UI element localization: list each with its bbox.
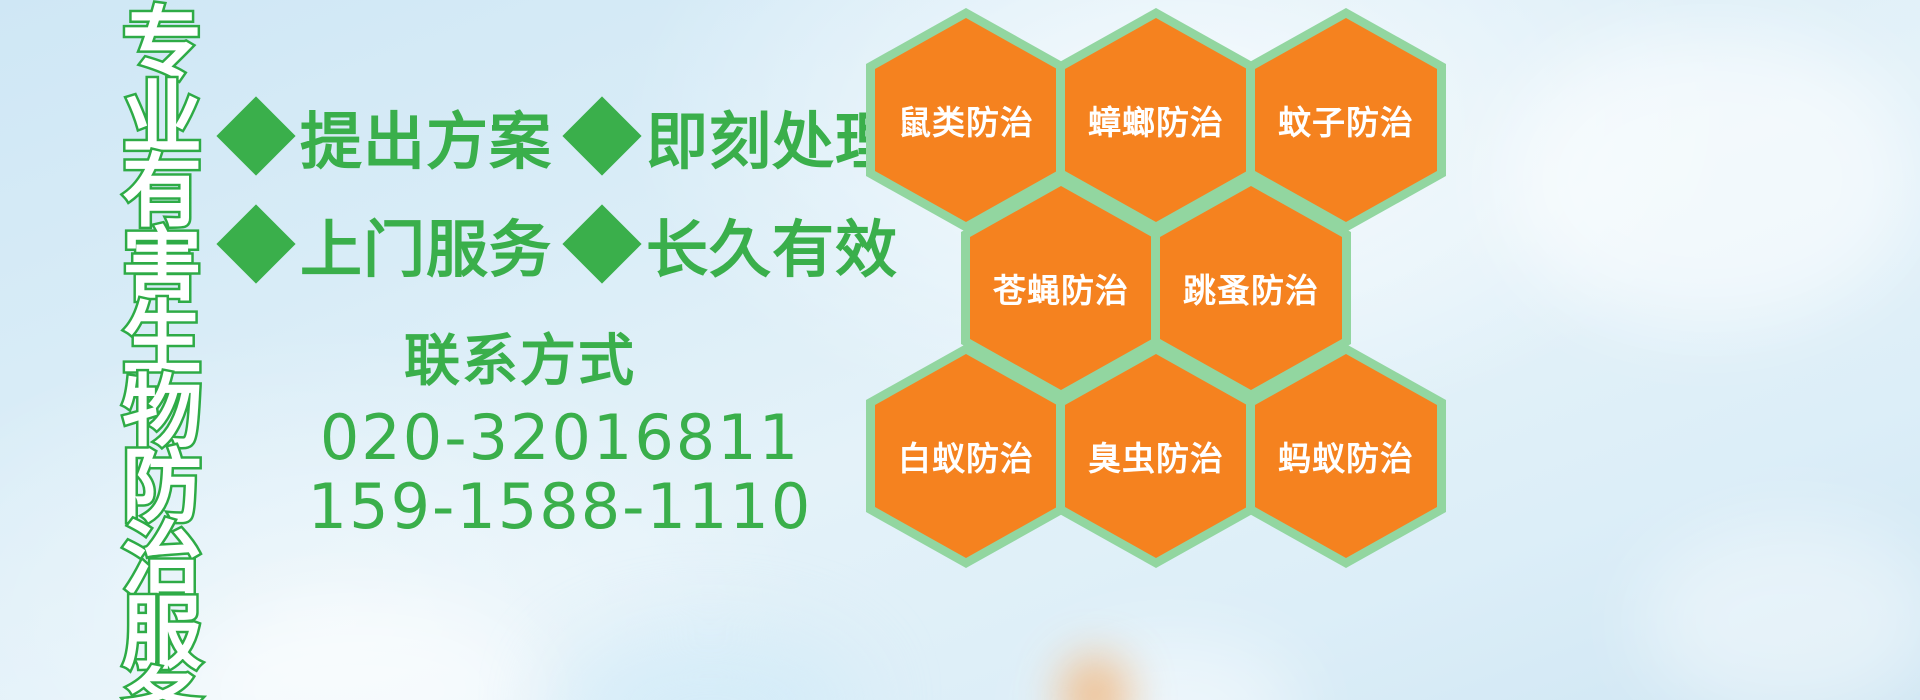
background-blur-decoration: [180, 600, 540, 700]
vertical-headline-char: 有: [122, 155, 202, 229]
feature-item-door-to-door-service: 上门服务: [228, 199, 552, 289]
promo-banner: 专 业 有 害 生 物 防 治 服 务 提出方案 即刻处理 上门服务: [0, 0, 1920, 700]
feature-label: 提出方案: [300, 91, 552, 181]
hex-label: 跳蚤防治: [1183, 264, 1319, 312]
hex-cell-termite-control[interactable]: 白蚁防治: [866, 344, 1066, 568]
feature-row: 提出方案 即刻处理: [228, 82, 888, 190]
hex-label: 苍蝇防治: [993, 264, 1129, 312]
vertical-headline-char: 服: [122, 597, 202, 671]
background-blur-decoration: [560, 630, 860, 700]
feature-label: 长久有效: [646, 199, 898, 289]
hex-label: 蟑螂防治: [1088, 96, 1224, 144]
hex-label: 白蚁防治: [898, 432, 1034, 480]
feature-label: 上门服务: [300, 199, 552, 289]
contact-heading: 联系方式: [220, 316, 820, 397]
feature-item-long-lasting-effect: 长久有效: [574, 199, 898, 289]
background-blur-decoration: [1040, 640, 1300, 700]
vertical-headline-char: 治: [122, 523, 202, 597]
feature-item-immediate-handling: 即刻处理: [574, 91, 898, 181]
vertical-headline-char: 防: [122, 450, 202, 524]
diamond-icon: [216, 96, 295, 175]
hex-label: 臭虫防治: [1088, 432, 1224, 480]
vertical-headline-char: 害: [122, 229, 202, 303]
feature-label: 即刻处理: [646, 91, 898, 181]
vertical-headline-char: 专: [122, 8, 202, 82]
vertical-headline-char: 生: [122, 302, 202, 376]
vertical-headline-char: 物: [122, 376, 202, 450]
hex-label: 蚂蚁防治: [1278, 432, 1414, 480]
diamond-icon: [216, 204, 295, 283]
vertical-headline-char: 务: [122, 670, 202, 700]
feature-item-propose-plan: 提出方案: [228, 91, 552, 181]
service-honeycomb: 鼠类防治 蟑螂防治 蚊子防治 苍蝇防治 跳蚤防治: [862, 0, 1462, 560]
feature-list: 提出方案 即刻处理 上门服务 长久有效: [228, 82, 888, 298]
feature-row: 上门服务 长久有效: [228, 190, 888, 298]
background-blur-decoration: [1640, 520, 1920, 700]
background-blur-decoration: [1500, 30, 1920, 330]
vertical-headline: 专 业 有 害 生 物 防 治 服 务: [108, 8, 216, 678]
hex-cell-bedbug-control[interactable]: 臭虫防治: [1056, 344, 1256, 568]
contact-phone-landline[interactable]: 020-32016811: [300, 403, 820, 472]
hex-label: 鼠类防治: [898, 96, 1034, 144]
contact-phone-mobile[interactable]: 159-1588-1110: [300, 472, 820, 541]
vertical-headline-char: 业: [122, 82, 202, 156]
diamond-icon: [562, 96, 641, 175]
hex-cell-ant-control[interactable]: 蚂蚁防治: [1246, 344, 1446, 568]
diamond-icon: [562, 204, 641, 283]
background-blur-decoration: [1060, 655, 1130, 700]
contact-block: 联系方式 020-32016811 159-1588-1110: [300, 316, 820, 542]
hex-label: 蚊子防治: [1278, 96, 1414, 144]
